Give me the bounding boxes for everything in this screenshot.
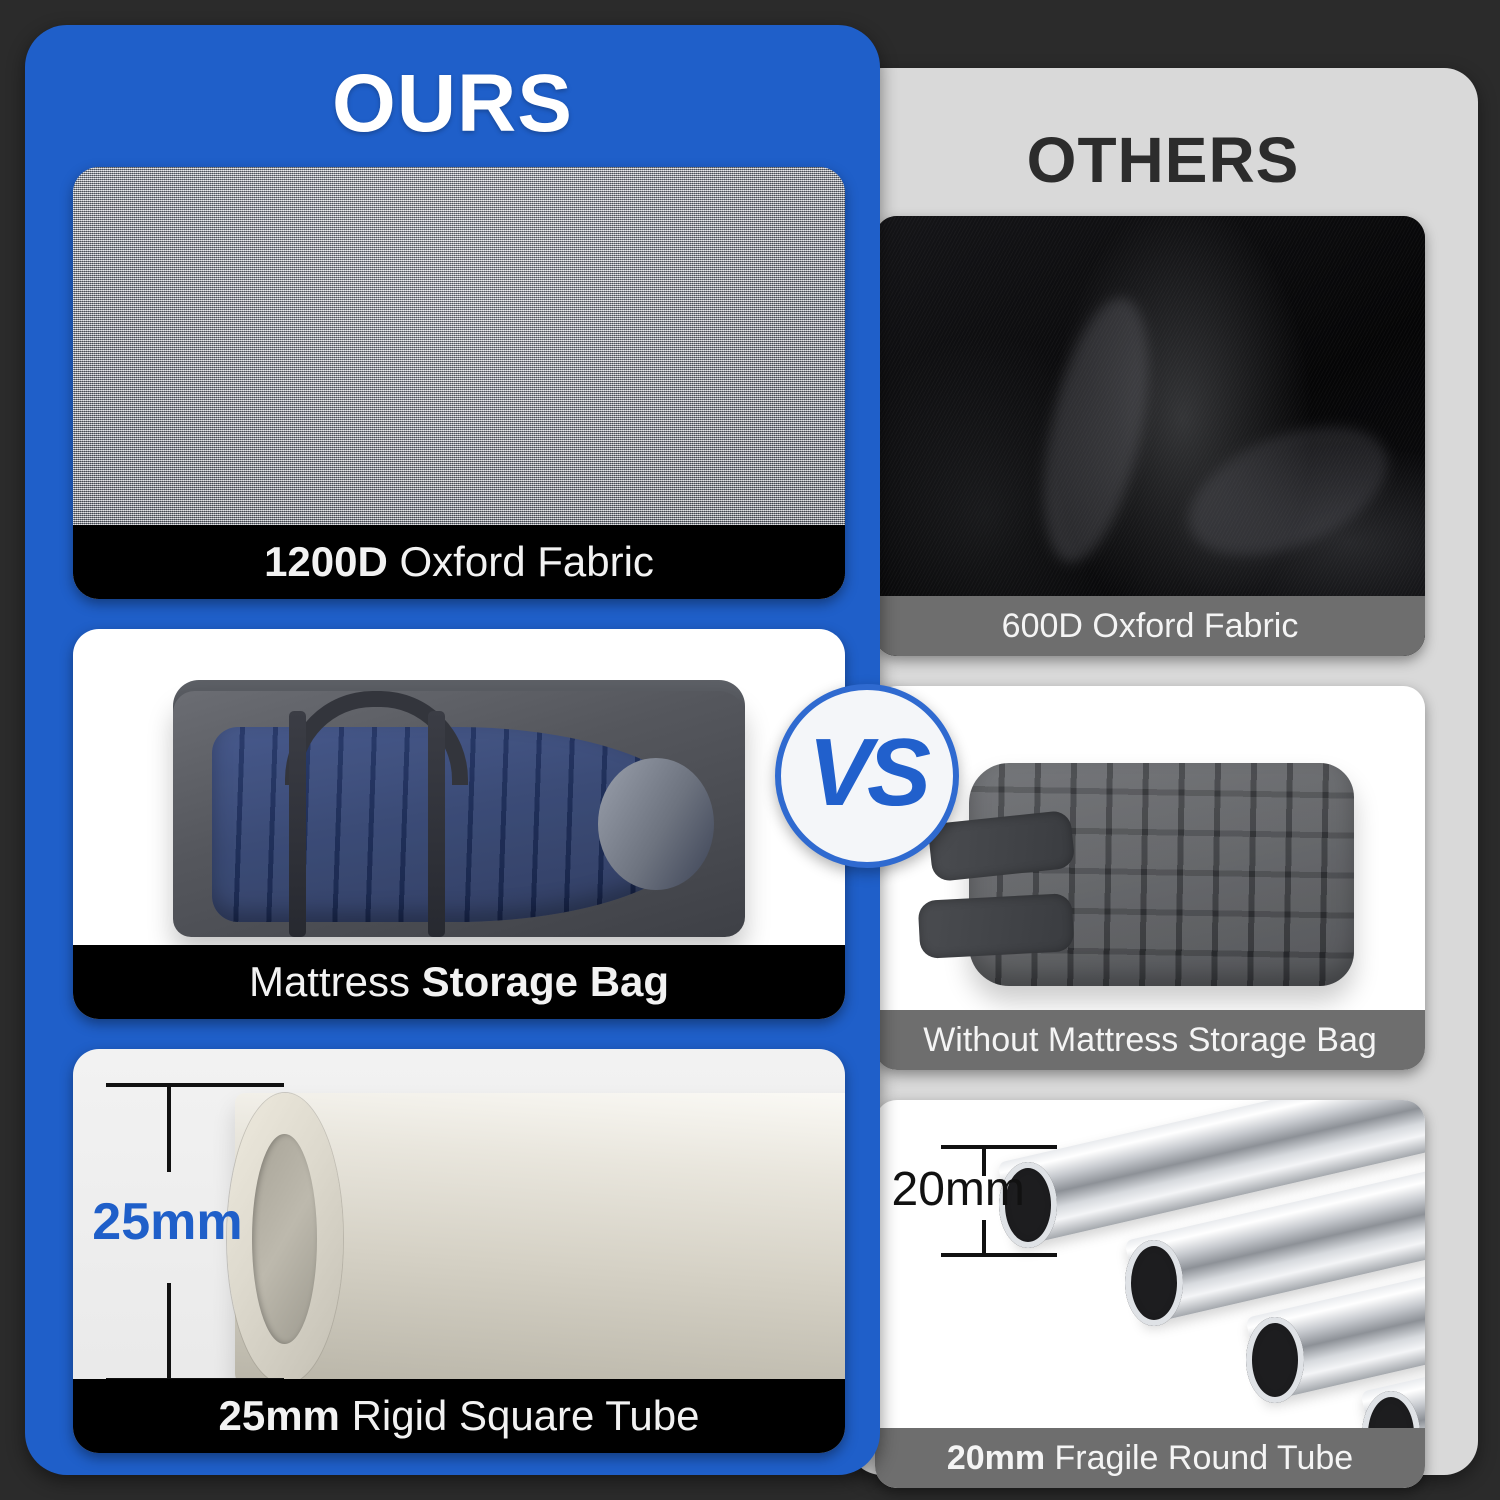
others-tube-caption-rest: Fragile Round Tube <box>1045 1439 1353 1477</box>
ours-tube-caption-bold: 25mm <box>219 1392 340 1439</box>
ours-tube-dimension-label: 25mm <box>92 1196 242 1248</box>
mattress-fold-2 <box>918 893 1075 959</box>
others-fabric-caption-text: 600D Oxford Fabric <box>1002 607 1299 645</box>
ours-fabric-caption: 1200D Oxford Fabric <box>73 525 845 599</box>
others-mattress-caption-text: Without Mattress Storage Bag <box>923 1021 1377 1059</box>
ours-card-storage-bag: Mattress Storage Bag <box>73 629 845 1019</box>
steel-tube-2-end <box>1125 1240 1183 1326</box>
others-title: OTHERS <box>848 128 1478 192</box>
ours-bag-caption-bold: Storage Bag <box>422 958 669 1005</box>
ours-card-fabric: 1200D Oxford Fabric <box>73 167 845 599</box>
ours-bag-caption: Mattress Storage Bag <box>73 945 845 1019</box>
ours-fabric-caption-bold: 1200D <box>264 538 388 585</box>
others-dim-vertical-lower <box>982 1220 986 1255</box>
bag-strap-left <box>289 711 306 937</box>
others-card-tube: 20mm 20mm Fragile Round Tube <box>875 1100 1425 1488</box>
ours-bag-caption-rest: Mattress <box>249 958 422 1005</box>
bag-strap-right <box>428 711 445 937</box>
ours-title: OURS <box>25 63 880 145</box>
others-card-mattress: Without Mattress Storage Bag <box>875 686 1425 1070</box>
ours-tube-caption-rest: Rigid Square Tube <box>340 1392 700 1439</box>
fabric-fold-highlight-2 <box>1170 401 1406 582</box>
others-card-fabric: 600D Oxford Fabric <box>875 216 1425 656</box>
others-tube-caption: 20mm Fragile Round Tube <box>875 1428 1425 1488</box>
others-fabric-caption: 600D Oxford Fabric <box>875 596 1425 656</box>
comparison-infographic: OURS 1200D Oxford Fabric <box>0 0 1500 1500</box>
ours-card-tube: 25mm 25mm Rigid Square Tube <box>73 1049 845 1453</box>
dim-vertical-upper <box>167 1083 171 1172</box>
others-tube-dimension-label: 20mm <box>892 1166 1025 1214</box>
tube-bore <box>252 1134 317 1344</box>
ours-panel: OURS 1200D Oxford Fabric <box>25 25 880 1475</box>
ours-tube-caption: 25mm Rigid Square Tube <box>73 1379 845 1453</box>
black-draped-oxford-fabric <box>875 216 1425 656</box>
others-dim-bottom-rule <box>941 1253 1057 1257</box>
dim-top-rule <box>106 1083 284 1087</box>
versus-label: VS <box>808 725 926 821</box>
fabric-fold-highlight-1 <box>1024 289 1168 572</box>
ours-fabric-caption-rest: Oxford Fabric <box>388 538 654 585</box>
dim-vertical-lower <box>167 1283 171 1380</box>
mattress-roll-end <box>598 758 714 891</box>
others-mattress-caption: Without Mattress Storage Bag <box>875 1010 1425 1070</box>
others-tube-caption-bold: 20mm <box>947 1439 1045 1477</box>
versus-badge: VS <box>775 684 959 868</box>
others-dim-top-rule <box>941 1145 1057 1149</box>
